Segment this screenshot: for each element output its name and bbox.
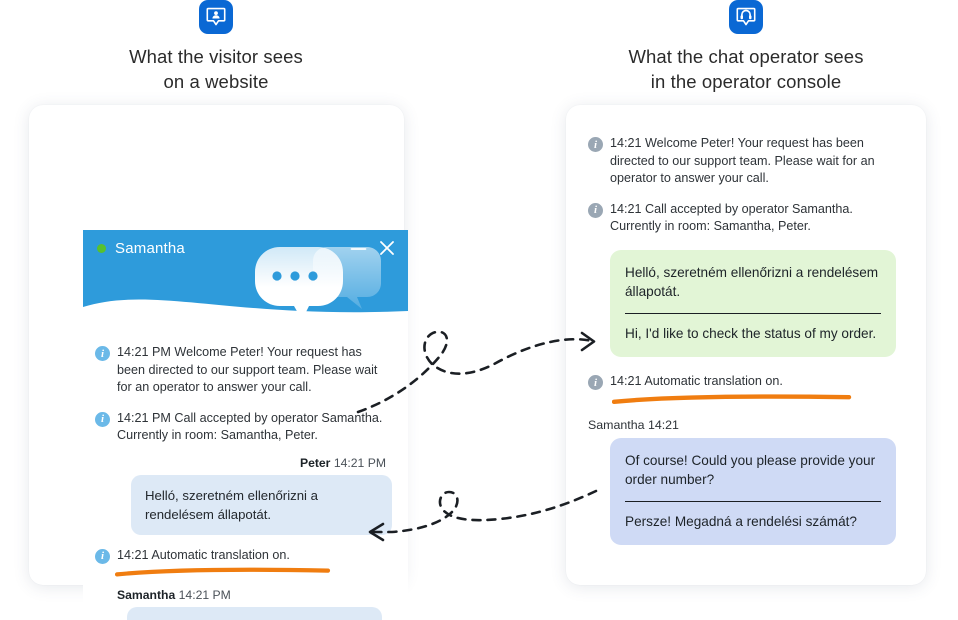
- infographic-canvas: What the visitor sees on a website What …: [0, 0, 958, 620]
- info-icon: i: [95, 412, 110, 427]
- message-meta: Samantha 14:21: [588, 418, 896, 432]
- widget-title-bar: Samantha: [83, 230, 408, 266]
- operator-console-card: i 14:21 Welcome Peter! Your request has …: [566, 105, 926, 585]
- message-time: 14:21 PM: [334, 456, 386, 470]
- info-icon: i: [588, 375, 603, 390]
- operator-incoming-message: Samantha 14:21 PM Persze! Megadná a rend…: [95, 588, 392, 620]
- message-original-text: Of course! Could you please provide your…: [625, 451, 881, 490]
- widget-operator-name: Samantha: [115, 240, 185, 257]
- visitor-column-heading: What the visitor sees on a website: [66, 0, 366, 94]
- info-icon: i: [588, 203, 603, 218]
- message-time: 14:21 PM: [179, 588, 231, 602]
- visitor-message-bubble: Helló, szeretném ellenőrizni a rendelése…: [610, 250, 896, 358]
- system-message-text: 14:21 Welcome Peter! Your request has be…: [610, 135, 896, 188]
- system-message-text: 14:21 PM Call accepted by operator Saman…: [117, 410, 392, 445]
- operator-column-heading: What the chat operator sees in the opera…: [596, 0, 896, 94]
- message-author: Samantha: [117, 588, 175, 602]
- close-icon[interactable]: [379, 240, 395, 256]
- operator-column-title: What the chat operator sees in the opera…: [596, 44, 896, 94]
- visitor-chat-widget: Samantha: [83, 230, 408, 620]
- widget-message-list: i 14:21 PM Welcome Peter! Your request h…: [83, 330, 408, 620]
- orange-underline-highlight: [115, 567, 331, 579]
- system-message: i 14:21 PM Welcome Peter! Your request h…: [95, 344, 392, 397]
- visitor-website-card: Samantha: [29, 105, 404, 585]
- online-status-dot: [97, 244, 106, 253]
- visitor-column-title: What the visitor sees on a website: [66, 44, 366, 94]
- translation-notice: i 14:21 Automatic translation on.: [588, 373, 896, 391]
- translation-divider: [625, 501, 881, 502]
- message-translated-text: Persze! Megadná a rendelési számát?: [625, 512, 881, 532]
- message-meta: Samantha 14:21 PM: [95, 588, 392, 602]
- system-message-text: 14:21 Call accepted by operator Samantha…: [610, 201, 896, 236]
- message-bubble: Helló, szeretném ellenőrizni a rendelése…: [131, 475, 392, 535]
- message-author: Peter: [300, 456, 331, 470]
- message-meta: Peter 14:21 PM: [95, 456, 392, 470]
- system-message-text: 14:21 PM Welcome Peter! Your request has…: [117, 344, 392, 397]
- translation-notice-text: 14:21 Automatic translation on.: [610, 373, 783, 391]
- translation-notice: i 14:21 Automatic translation on.: [95, 547, 392, 565]
- message-text: Persze! Megadná a rendelési számát?: [142, 616, 367, 620]
- message-text: Helló, szeretném ellenőrizni a rendelése…: [145, 486, 378, 524]
- operator-message-bubble: Of course! Could you please provide your…: [610, 438, 896, 546]
- minimize-icon[interactable]: [350, 241, 367, 255]
- system-message: i 14:21 Call accepted by operator Samant…: [588, 201, 896, 236]
- widget-header: Samantha: [83, 230, 408, 330]
- info-icon: i: [95, 549, 110, 564]
- message-time: 14:21: [648, 418, 679, 432]
- translation-divider: [625, 313, 881, 314]
- translation-notice-text: 14:21 Automatic translation on.: [117, 547, 290, 565]
- operator-message: Samantha 14:21 Of course! Could you plea…: [588, 418, 896, 546]
- info-icon: i: [588, 137, 603, 152]
- header-wave-decoration: [83, 289, 408, 330]
- message-bubble: Persze! Megadná a rendelési számát?: [127, 607, 382, 620]
- operator-headset-icon: [729, 0, 763, 34]
- console-message-list: i 14:21 Welcome Peter! Your request has …: [566, 105, 926, 545]
- visitor-outgoing-message: Peter 14:21 PM Helló, szeretném ellenőri…: [95, 456, 392, 535]
- message-original-text: Helló, szeretném ellenőrizni a rendelése…: [625, 263, 881, 302]
- system-message: i 14:21 PM Call accepted by operator Sam…: [95, 410, 392, 445]
- orange-underline-highlight: [612, 394, 852, 406]
- info-icon: i: [95, 346, 110, 361]
- visitor-chat-icon: [199, 0, 233, 34]
- message-translated-text: Hi, I'd like to check the status of my o…: [625, 324, 881, 344]
- message-author: Samantha: [588, 418, 644, 432]
- system-message: i 14:21 Welcome Peter! Your request has …: [588, 135, 896, 188]
